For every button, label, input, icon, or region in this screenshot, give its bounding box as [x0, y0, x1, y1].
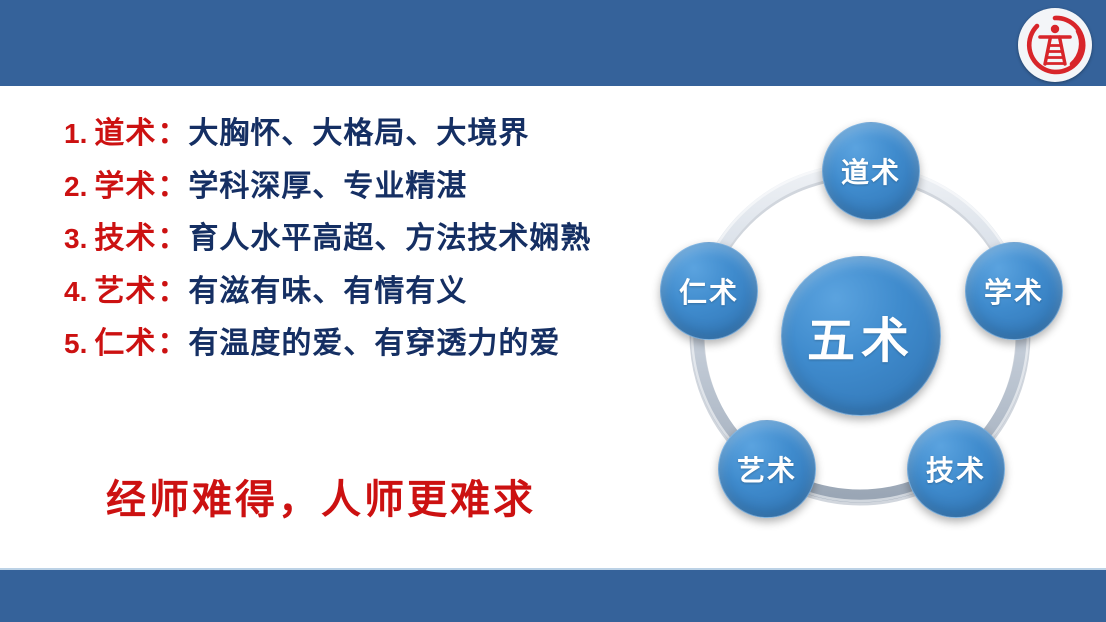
list-item-desc: 有温度的爱、有穿透力的爱 — [188, 328, 560, 360]
diagram-center-node[interactable]: 五术 — [781, 256, 941, 416]
diagram-node-jishu[interactable]: 技术 — [907, 420, 1005, 518]
list-item-index: 3. — [64, 224, 87, 253]
list-item: 2. 学术 ： 学科深厚、专业精湛 — [64, 171, 664, 203]
five-arts-diagram: 五术 道术 学术 技术 艺术 仁术 — [640, 108, 1080, 538]
tagline-text: 经师难得，人师更难求 — [106, 467, 536, 525]
footer-bar: 中华人民共和国教育部 Ministry of Education of the … — [0, 568, 1106, 622]
list-item: 1. 道术 ： 大胸怀、大格局、大境界 — [64, 118, 664, 150]
header-accent-line — [0, 86, 1106, 89]
diagram-node-yishu[interactable]: 艺术 — [718, 420, 816, 518]
list-item-separator: ： — [157, 118, 187, 150]
diagram-node-renshu[interactable]: 仁术 — [660, 242, 758, 340]
seal-logo-icon — [1022, 12, 1088, 78]
list-item-index: 4. — [64, 277, 87, 306]
diagram-node-label: 仁术 — [679, 271, 739, 311]
list-item-desc: 育人水平高超、方法技术娴熟 — [188, 223, 591, 255]
diagram-node-label: 艺术 — [737, 449, 797, 489]
diagram-node-label: 技术 — [926, 449, 986, 489]
list-item-term: 仁术 — [94, 328, 156, 360]
diagram-node-daoshu[interactable]: 道术 — [822, 122, 920, 220]
list-item-index: 1. — [64, 119, 87, 148]
list-item: 3. 技术 ： 育人水平高超、方法技术娴熟 — [64, 223, 664, 255]
list-item-separator: ： — [157, 328, 187, 360]
list-item-desc: 有滋有味、有情有义 — [188, 276, 467, 308]
diagram-center-label: 五术 — [807, 301, 915, 371]
diagram-node-xueshu[interactable]: 学术 — [965, 242, 1063, 340]
list-item-index: 5. — [64, 329, 87, 358]
list-item: 5. 仁术 ： 有温度的爱、有穿透力的爱 — [64, 328, 664, 360]
list-item-separator: ： — [157, 171, 187, 203]
list-item-term: 艺术 — [94, 276, 156, 308]
list-item-separator: ： — [157, 276, 187, 308]
list-item-separator: ： — [157, 223, 187, 255]
slide-canvas: 1. 道术 ： 大胸怀、大格局、大境界 2. 学术 ： 学科深厚、专业精湛 3.… — [0, 0, 1106, 622]
list-item-term: 学术 — [94, 171, 156, 203]
list-item-desc: 学科深厚、专业精湛 — [188, 171, 467, 203]
list-item-term: 技术 — [94, 223, 156, 255]
list-item-term: 道术 — [94, 118, 156, 150]
five-arts-list: 1. 道术 ： 大胸怀、大格局、大境界 2. 学术 ： 学科深厚、专业精湛 3.… — [64, 118, 664, 381]
footer-top-divider — [0, 568, 1106, 570]
institution-seal-logo — [1018, 8, 1092, 82]
list-item: 4. 艺术 ： 有滋有味、有情有义 — [64, 276, 664, 308]
diagram-node-label: 道术 — [841, 151, 901, 191]
list-item-desc: 大胸怀、大格局、大境界 — [188, 118, 529, 150]
diagram-node-label: 学术 — [984, 271, 1044, 311]
header-bar — [0, 0, 1106, 88]
list-item-index: 2. — [64, 172, 87, 201]
